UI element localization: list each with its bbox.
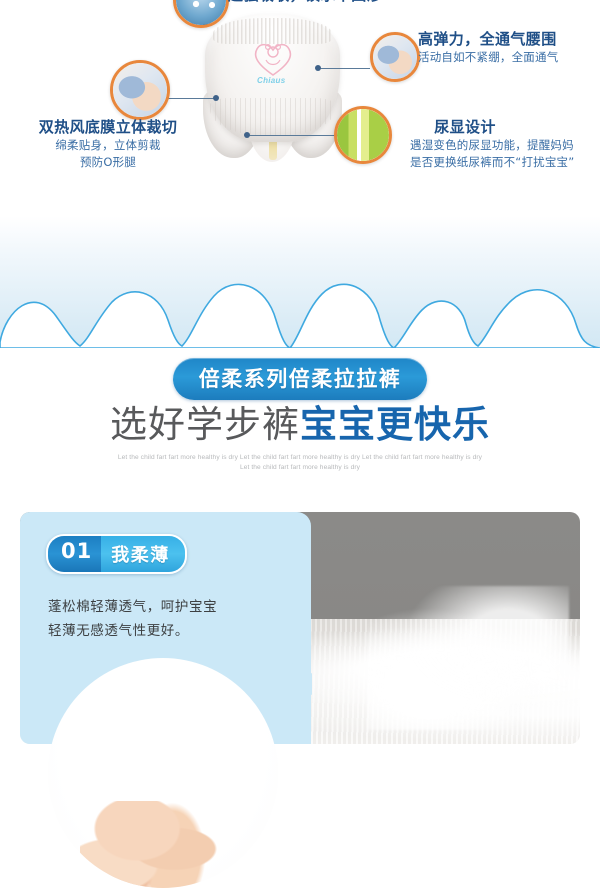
leader-line-left: [168, 98, 216, 99]
feature-description: 蓬松棉轻薄透气，呵护宝宝 轻薄无感透气性更好。: [48, 596, 288, 643]
page-title-accent: 宝宝更快乐: [300, 403, 490, 446]
callout-bottom-film-subtitle-2: 预防O形腿: [8, 154, 208, 171]
feature-number-badge: 01 我柔薄: [46, 534, 187, 574]
feature-info-card: 01 我柔薄 蓬松棉轻薄透气，呵护宝宝 轻薄无感透气性更好。: [20, 512, 311, 744]
leader-line-right-waist: [318, 68, 370, 69]
brand-mark: Chiaus: [257, 76, 293, 86]
callout-waistband-subtitle: 活动自如不紧绷，全面通气: [418, 49, 598, 66]
headline-section: 倍柔系列倍柔拉拉裤 选好学步裤宝宝更快乐 Let the child fart …: [0, 348, 600, 490]
breathable-sock-photo-icon: [110, 60, 170, 120]
leader-dot-right-waist: [315, 65, 321, 71]
baby-lying-photo: [48, 658, 278, 888]
callout-wetness-subtitle-1: 遇湿变色的尿显功能，提醒妈妈: [410, 137, 600, 154]
callout-waistband-title: 高弹力，全通气腰围: [418, 30, 598, 49]
callout-bottom-film-title: 双热风底膜立体裁切: [8, 118, 208, 137]
callout-wetness: 尿显设计 遇湿变色的尿显功能，提醒妈妈 是否更换纸尿裤而不“打扰宝宝”: [410, 118, 600, 171]
series-pill-badge: 倍柔系列倍柔拉拉裤: [173, 358, 428, 400]
leader-dot-right-wetness: [244, 132, 250, 138]
scallop-shape: [0, 280, 600, 348]
leader-line-right-wetness: [248, 135, 338, 136]
feature-description-line-1: 蓬松棉轻薄透气，呵护宝宝: [48, 596, 288, 620]
wetness-indicator-stripe-icon: [334, 106, 392, 164]
badge-number: 01: [48, 536, 101, 572]
speech-bubble-tail: [290, 662, 312, 706]
feature-description-line-2: 轻薄无感透气性更好。: [48, 620, 288, 644]
page-title: 选好学步裤宝宝更快乐: [0, 404, 600, 446]
subtitle-english-line-1: Let the child fart fart more healthy is …: [0, 453, 600, 463]
callout-bottom-film: 双热风底膜立体裁切 绵柔贴身，立体剪裁 预防O形腿: [8, 118, 208, 171]
subtitle-english-line-2: Let the child fart fart more healthy is …: [0, 463, 600, 473]
callout-bottom-film-subtitle-1: 绵柔贴身，立体剪裁: [8, 137, 208, 154]
callout-waistband: 高弹力，全通气腰围 活动自如不紧绷，全面通气: [418, 30, 598, 66]
scalloped-wave-divider: [0, 216, 600, 348]
subtitle-english: Let the child fart fart more healthy is …: [0, 453, 600, 473]
badge-label: 我柔薄: [101, 536, 185, 572]
leader-dot-left: [213, 95, 219, 101]
callout-top-title: 超强吸收，锁水不回渗: [228, 0, 468, 5]
callout-wetness-subtitle-2: 是否更换纸尿裤而不“打扰宝宝”: [410, 154, 600, 171]
baby-legs: [80, 801, 223, 888]
fabric-fluff-wisp: [367, 586, 569, 730]
product-image-pull-up-pants: Chiaus: [205, 14, 340, 179]
callout-top: 超强吸收，锁水不回渗: [228, 0, 468, 5]
callout-wetness-title: 尿显设计: [410, 118, 520, 137]
feature-callouts-section: Chiaus 超强吸收，锁水不回渗 高弹力，全通气腰围 活动自如不紧绷，全面通气…: [0, 0, 600, 216]
page-title-light: 选好学步裤: [110, 403, 300, 446]
heart-bear-print-icon: [251, 38, 295, 78]
elastic-waistband-photo-icon: [370, 32, 420, 82]
